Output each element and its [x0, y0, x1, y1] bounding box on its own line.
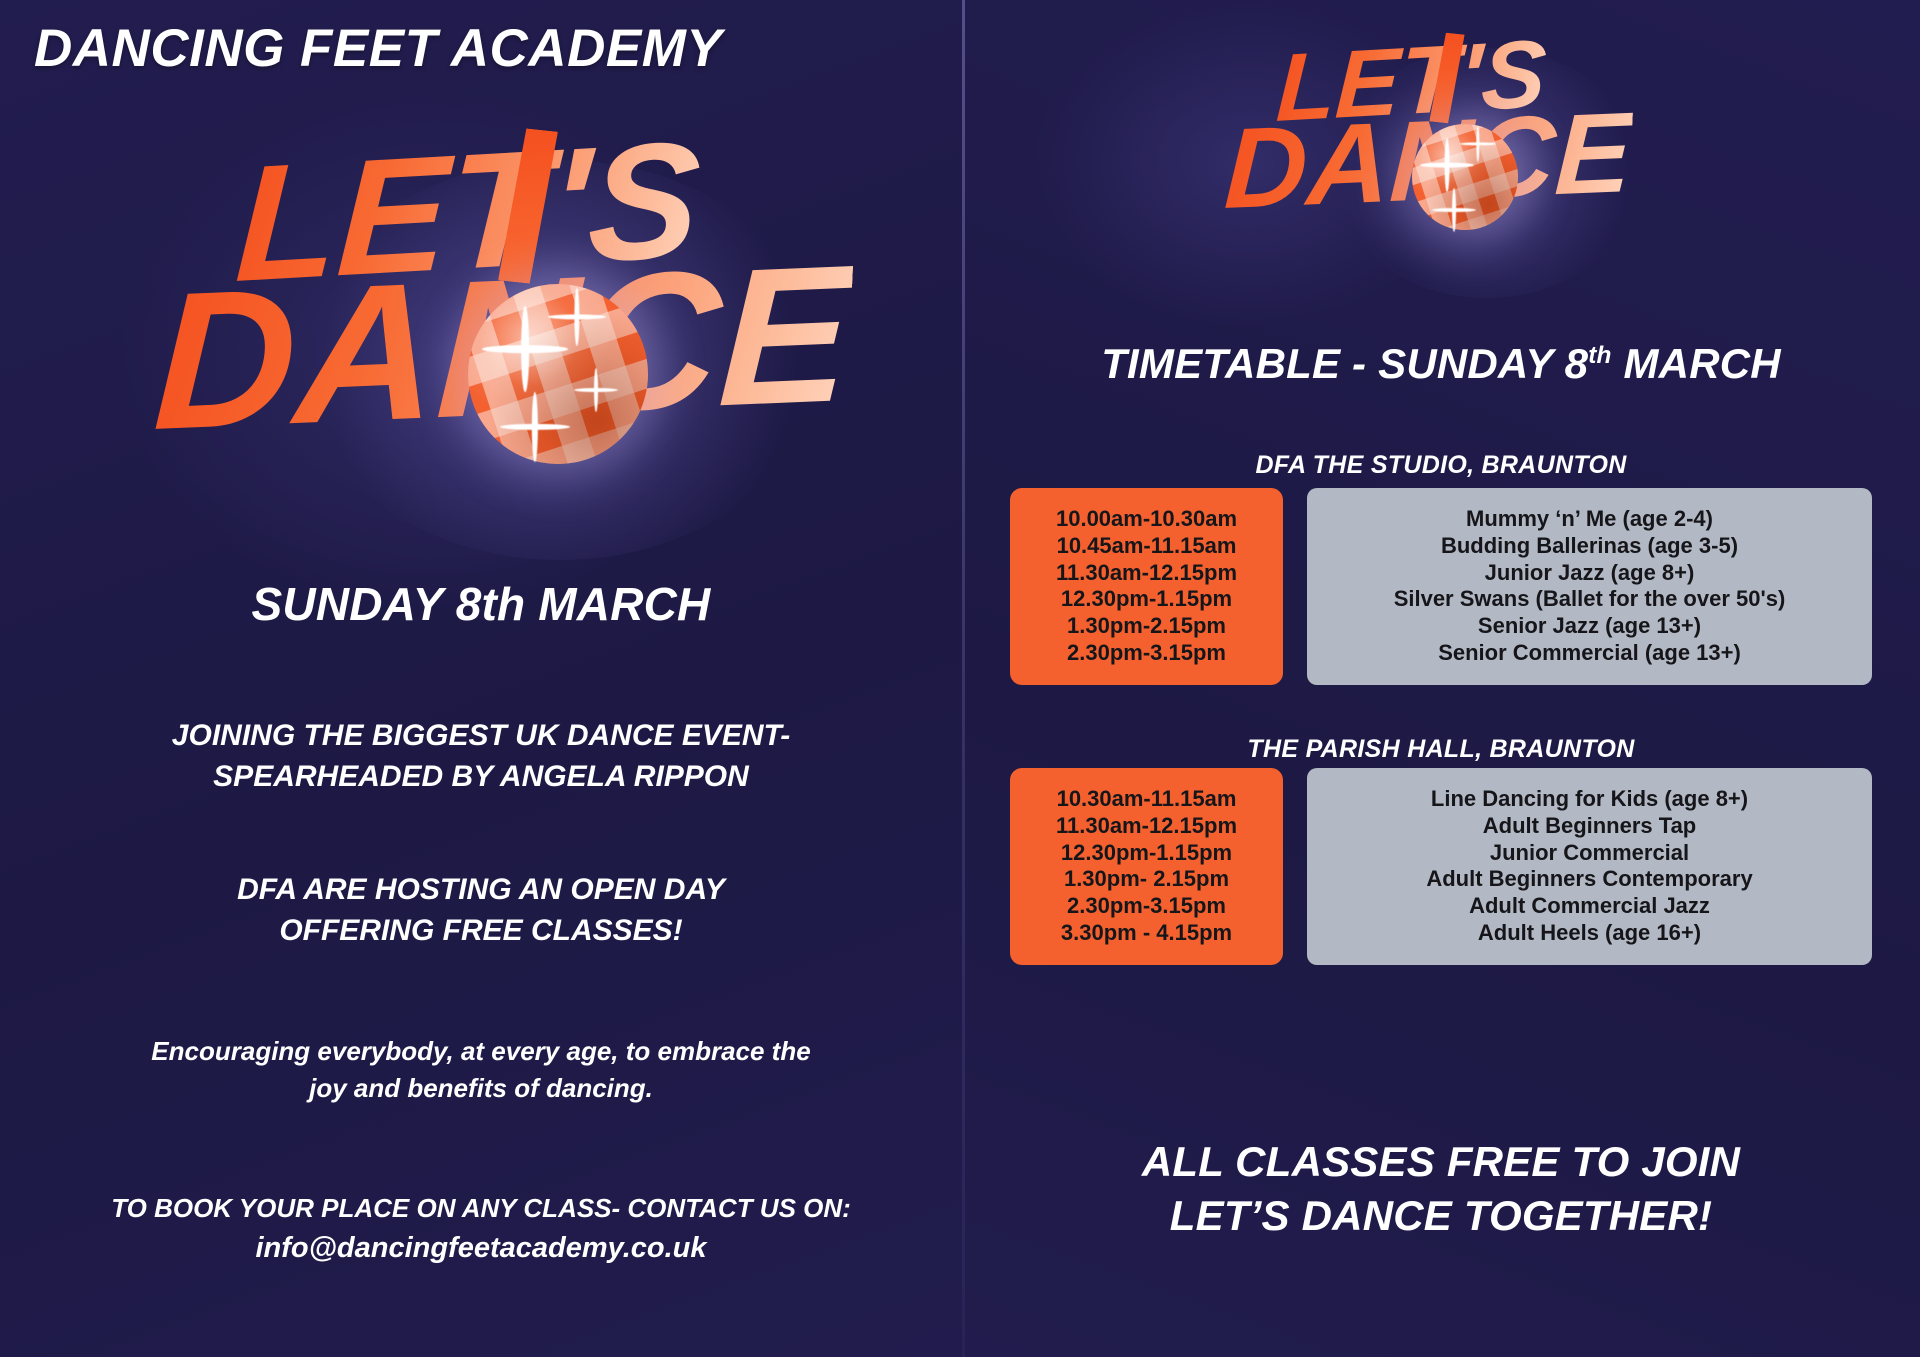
time-slot: 10.00am-10.30am: [1018, 506, 1275, 533]
times-column-studio: 10.00am-10.30am 10.45am-11.15am 11.30am-…: [1010, 488, 1283, 685]
time-slot: 1.30pm-2.15pm: [1018, 613, 1275, 640]
classes-column-parish-hall: Line Dancing for Kids (age 8+) Adult Beg…: [1307, 768, 1872, 965]
timetable-block-parish-hall: 10.30am-11.15am 11.30am-12.15pm 12.30pm-…: [1010, 768, 1872, 965]
class-name: Adult Commercial Jazz: [1321, 893, 1858, 920]
class-name: Adult Beginners Contemporary: [1321, 866, 1858, 893]
classes-column-studio: Mummy ‘n’ Me (age 2-4) Budding Ballerina…: [1307, 488, 1872, 685]
time-slot: 1.30pm- 2.15pm: [1018, 866, 1275, 893]
footer-message: ALL CLASSES FREE TO JOIN LET’S DANCE TOG…: [962, 1135, 1920, 1243]
class-name: Senior Jazz (age 13+): [1321, 613, 1858, 640]
event-description-line2: SPEARHEADED BY ANGELA RIPPON: [46, 757, 916, 798]
class-name: Mummy ‘n’ Me (age 2-4): [1321, 506, 1858, 533]
footer-line1: ALL CLASSES FREE TO JOIN: [962, 1135, 1920, 1189]
venue-heading-parish-hall: THE PARISH HALL, BRAUNTON: [962, 735, 1920, 764]
event-description-line1: JOINING THE BIGGEST UK DANCE EVENT-: [46, 716, 916, 757]
class-name: Adult Heels (age 16+): [1321, 920, 1858, 947]
left-panel: DANCING FEET ACADEMY LET'S DANCE SUNDAY …: [0, 0, 962, 1357]
time-slot: 11.30am-12.15pm: [1018, 813, 1275, 840]
venue-heading-studio: DFA THE STUDIO, BRAUNTON: [962, 451, 1920, 480]
class-name: Junior Commercial: [1321, 840, 1858, 867]
open-day-line2: OFFERING FREE CLASSES!: [46, 911, 916, 952]
class-name: Adult Beginners Tap: [1321, 813, 1858, 840]
encouragement-line2: joy and benefits of dancing.: [46, 1070, 916, 1107]
lets-dance-logo-right: LET'S DANCE: [1222, 28, 1642, 278]
event-date: SUNDAY 8th MARCH: [0, 578, 962, 631]
class-name: Senior Commercial (age 13+): [1321, 640, 1858, 667]
lets-dance-logo-left: LET'S DANCE: [150, 120, 810, 520]
times-column-parish-hall: 10.30am-11.15am 11.30am-12.15pm 12.30pm-…: [1010, 768, 1283, 965]
booking-instruction: TO BOOK YOUR PLACE ON ANY CLASS- CONTACT…: [46, 1190, 916, 1228]
disco-ball-icon: [468, 284, 648, 464]
timetable-title-suffix: MARCH: [1612, 340, 1781, 387]
time-slot: 2.30pm-3.15pm: [1018, 893, 1275, 920]
disco-ball-icon: [1412, 124, 1518, 230]
class-name: Budding Ballerinas (age 3-5): [1321, 533, 1858, 560]
right-panel: LET'S DANCE TIMETABLE - SUNDAY 8th MARCH…: [962, 0, 1920, 1357]
class-name: Silver Swans (Ballet for the over 50's): [1321, 586, 1858, 613]
time-slot: 10.30am-11.15am: [1018, 786, 1275, 813]
timetable-title-superscript: th: [1588, 342, 1611, 369]
time-slot: 10.45am-11.15am: [1018, 533, 1275, 560]
event-description: JOINING THE BIGGEST UK DANCE EVENT- SPEA…: [46, 716, 916, 798]
footer-line2: LET’S DANCE TOGETHER!: [962, 1189, 1920, 1243]
time-slot: 11.30am-12.15pm: [1018, 560, 1275, 587]
class-name: Line Dancing for Kids (age 8+): [1321, 786, 1858, 813]
class-name: Junior Jazz (age 8+): [1321, 560, 1858, 587]
encouragement-text: Encouraging everybody, at every age, to …: [46, 1033, 916, 1107]
time-slot: 2.30pm-3.15pm: [1018, 640, 1275, 667]
timetable-block-studio: 10.00am-10.30am 10.45am-11.15am 11.30am-…: [1010, 488, 1872, 685]
time-slot: 12.30pm-1.15pm: [1018, 840, 1275, 867]
timetable-title-prefix: TIMETABLE - SUNDAY 8: [1101, 340, 1588, 387]
contact-email[interactable]: info@dancingfeetacademy.co.uk: [46, 1232, 916, 1265]
academy-title: DANCING FEET ACADEMY: [34, 18, 722, 79]
panel-divider: [962, 0, 965, 1357]
open-day-text: DFA ARE HOSTING AN OPEN DAY OFFERING FRE…: [46, 870, 916, 952]
time-slot: 3.30pm - 4.15pm: [1018, 920, 1275, 947]
encouragement-line1: Encouraging everybody, at every age, to …: [46, 1033, 916, 1070]
time-slot: 12.30pm-1.15pm: [1018, 586, 1275, 613]
flyer-root: DANCING FEET ACADEMY LET'S DANCE SUNDAY …: [0, 0, 1920, 1357]
open-day-line1: DFA ARE HOSTING AN OPEN DAY: [46, 870, 916, 911]
timetable-title: TIMETABLE - SUNDAY 8th MARCH: [962, 340, 1920, 389]
